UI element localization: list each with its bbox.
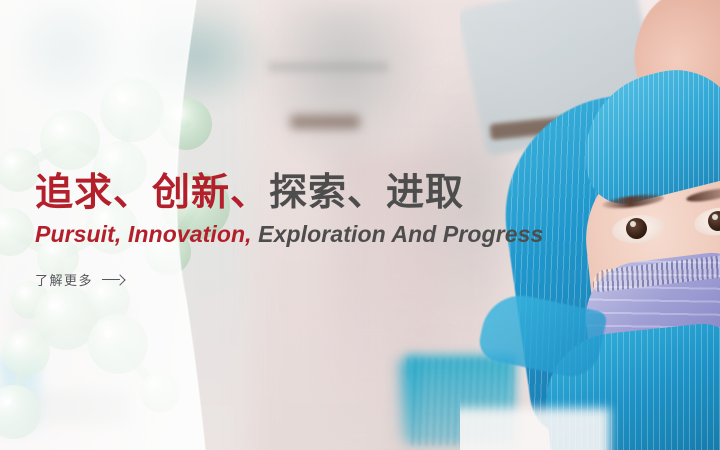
eye-left — [626, 218, 647, 239]
learn-more-label: 了解更多 — [35, 270, 93, 289]
hero-banner: 追求、创新、探索、进取 Pursuit, Innovation, Explora… — [0, 0, 720, 450]
subtitle-red-part: Pursuit, Innovation, — [35, 221, 252, 247]
arrow-right-icon — [102, 275, 124, 285]
hero-text-block: 追求、创新、探索、进取 Pursuit, Innovation, Explora… — [35, 170, 595, 290]
learn-more-button[interactable]: 了解更多 — [35, 270, 124, 289]
headline-grey-part: 探索、进取 — [269, 172, 464, 214]
subtitle-grey-part: Exploration And Progress — [252, 221, 544, 247]
page-title: 追求、创新、探索、进取 — [35, 170, 595, 216]
page-subtitle: Pursuit, Innovation, Exploration And Pro… — [35, 220, 595, 248]
headline-red-part: 追求、创新、 — [35, 172, 269, 214]
